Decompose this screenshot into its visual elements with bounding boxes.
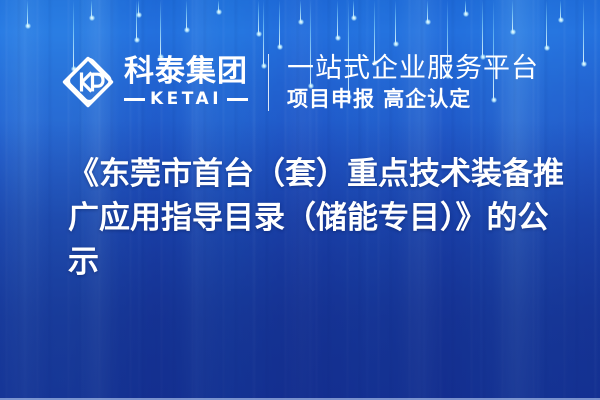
light-streak bbox=[27, 0, 28, 26]
light-streak bbox=[300, 0, 301, 22]
ketai-diamond-monogram-icon bbox=[61, 55, 115, 109]
light-streak bbox=[138, 0, 139, 15]
light-streak bbox=[91, 0, 92, 18]
tagline-block: 一站式企业服务平台 项目申报 高企认定 bbox=[287, 53, 539, 112]
logo-wordmark: 科泰集团 KETAI bbox=[124, 56, 248, 108]
light-streak bbox=[258, 0, 259, 34]
logo-english-row: KETAI bbox=[124, 90, 248, 108]
logo-lockup: 科泰集团 KETAI bbox=[61, 55, 248, 109]
logo-english-name: KETAI bbox=[150, 90, 222, 108]
logo-rule-right bbox=[227, 98, 248, 101]
promo-poster: 科泰集团 KETAI 一站式企业服务平台 项目申报 高企认定 《东莞市首台（套）… bbox=[0, 0, 600, 400]
light-streak bbox=[337, 0, 338, 38]
light-streak bbox=[186, 0, 187, 30]
light-streak bbox=[395, 0, 396, 44]
light-streak bbox=[465, 0, 466, 14]
header-divider bbox=[268, 54, 269, 111]
light-streak bbox=[512, 0, 513, 32]
logo-chinese-name: 科泰集团 bbox=[124, 56, 248, 88]
light-streak bbox=[136, 0, 137, 40]
brand-header: 科泰集团 KETAI 一站式企业服务平台 项目申报 高企认定 bbox=[0, 44, 600, 120]
logo-rule-left bbox=[124, 98, 145, 101]
light-streak bbox=[560, 0, 561, 20]
light-streak bbox=[279, 0, 280, 47]
tagline-primary: 一站式企业服务平台 bbox=[287, 53, 539, 84]
light-streak bbox=[427, 0, 428, 22]
light-streak bbox=[546, 0, 547, 48]
page-title: 《东莞市首台（套）重点技术装备推广应用指导目录（储能专目）》的公示 bbox=[68, 152, 568, 284]
light-streak bbox=[353, 0, 354, 18]
light-streak bbox=[218, 0, 219, 12]
tagline-secondary: 项目申报 高企认定 bbox=[287, 86, 539, 112]
